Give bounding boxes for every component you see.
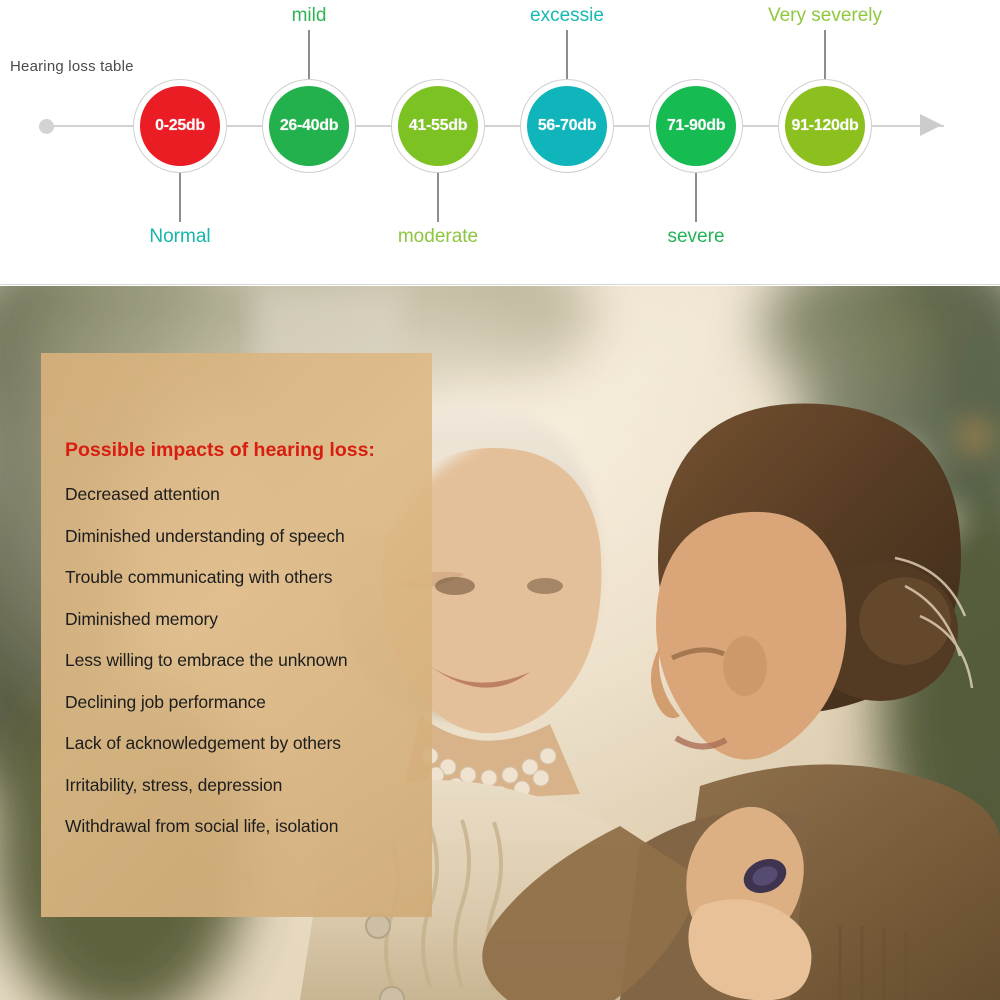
severity-label-3: moderate [398, 226, 478, 248]
impact-item: Irritability, stress, depression [65, 775, 432, 796]
node-range-label-4: 56-70db [520, 79, 614, 173]
node-stem-2 [308, 30, 310, 79]
severity-label-1: Normal [149, 226, 210, 248]
timeline-start-dot [39, 119, 54, 134]
impacts-list: Decreased attentionDiminished understand… [65, 484, 432, 837]
impact-item: Declining job performance [65, 692, 432, 713]
impact-item: Diminished understanding of speech [65, 526, 432, 547]
impact-item: Diminished memory [65, 609, 432, 630]
node-stem-6 [824, 30, 826, 79]
severity-node-5[interactable]: 71-90db [649, 79, 743, 173]
impact-item: Decreased attention [65, 484, 432, 505]
node-stem-1 [179, 173, 181, 222]
severity-node-1[interactable]: 0-25db [133, 79, 227, 173]
hearing-loss-infographic: Hearing loss table 0-25dbNormal26-40dbmi… [0, 0, 1000, 1000]
severity-node-6[interactable]: 91-120db [778, 79, 872, 173]
severity-node-2[interactable]: 26-40db [262, 79, 356, 173]
timeline-arrow-icon [920, 114, 942, 136]
severity-label-2: mild [292, 5, 327, 27]
node-stem-3 [437, 173, 439, 222]
node-stem-5 [695, 173, 697, 222]
impacts-overlay-card: Possible impacts of hearing loss: Decrea… [41, 353, 432, 917]
chart-title: Hearing loss table [10, 58, 134, 75]
node-stem-4 [566, 30, 568, 79]
hearing-loss-chart-panel: Hearing loss table 0-25dbNormal26-40dbmi… [0, 0, 1000, 285]
severity-label-4: excessie [530, 5, 604, 27]
impact-item: Lack of acknowledgement by others [65, 733, 432, 754]
severity-node-3[interactable]: 41-55db [391, 79, 485, 173]
impact-item: Less willing to embrace the unknown [65, 650, 432, 671]
impact-item: Trouble communicating with others [65, 567, 432, 588]
severity-node-4[interactable]: 56-70db [520, 79, 614, 173]
node-range-label-5: 71-90db [649, 79, 743, 173]
node-range-label-1: 0-25db [133, 79, 227, 173]
node-range-label-2: 26-40db [262, 79, 356, 173]
node-range-label-3: 41-55db [391, 79, 485, 173]
severity-label-6: Very severely [768, 5, 882, 27]
impacts-heading: Possible impacts of hearing loss: [65, 439, 432, 462]
node-range-label-6: 91-120db [778, 79, 872, 173]
severity-label-5: severe [667, 226, 724, 248]
impact-item: Withdrawal from social life, isolation [65, 816, 432, 837]
